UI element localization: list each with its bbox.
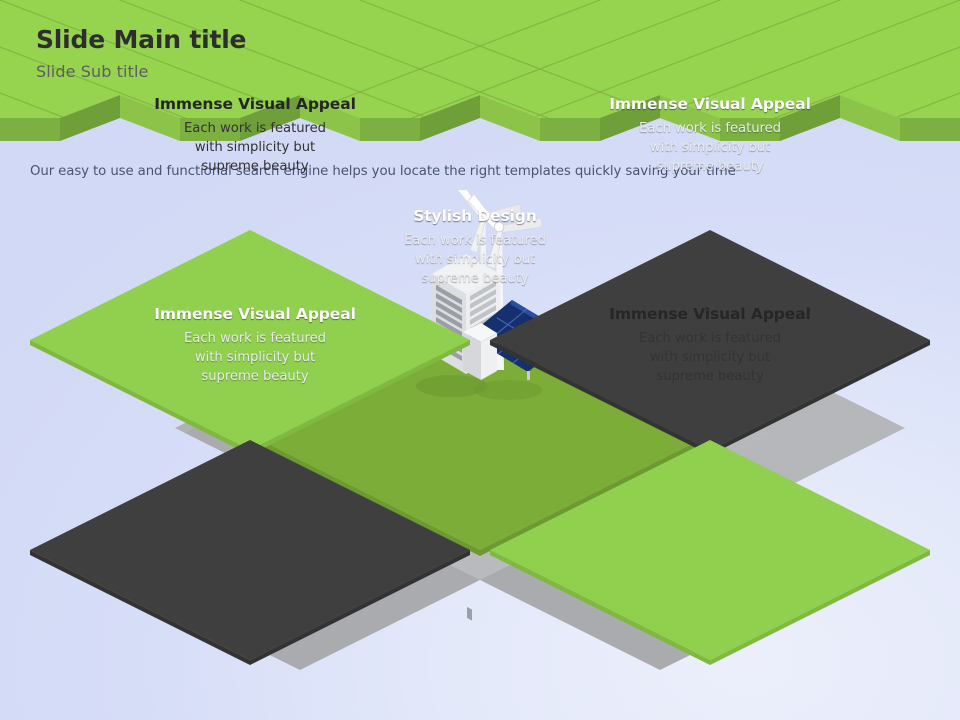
isometric-diagram	[0, 190, 960, 690]
page-title: Slide Main title	[36, 26, 246, 54]
slide-canvas: Slide Main title Slide Sub title Our eas…	[0, 0, 960, 720]
tagline-text: Our easy to use and functional search en…	[30, 164, 736, 179]
header-titles: Slide Main title Slide Sub title	[36, 26, 246, 81]
page-subtitle: Slide Sub title	[36, 62, 246, 81]
